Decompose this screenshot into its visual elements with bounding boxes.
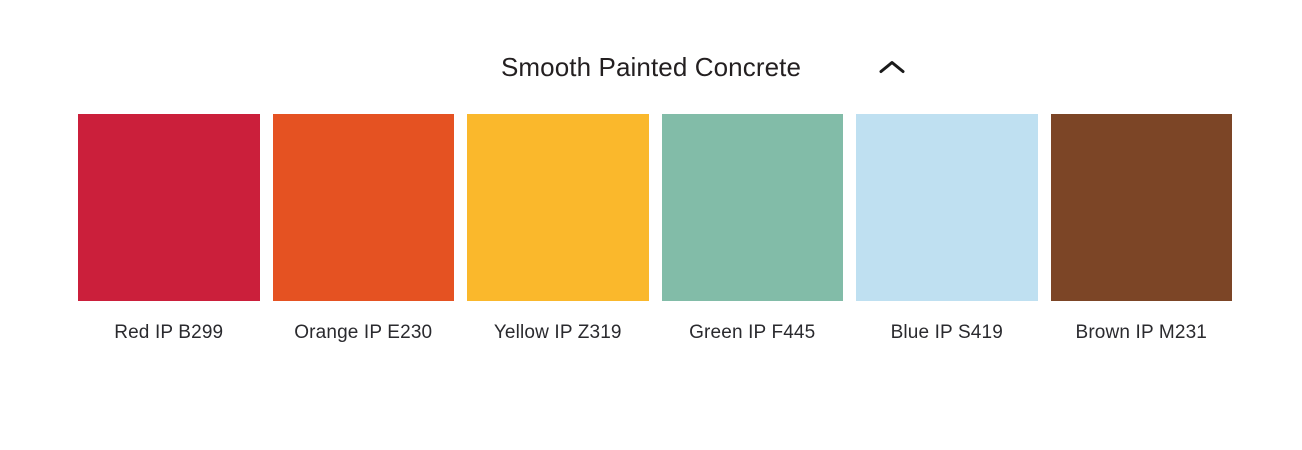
color-swatch[interactable] — [856, 114, 1038, 301]
swatch-item: Green IP F445 — [662, 114, 844, 346]
color-swatch[interactable] — [78, 114, 260, 301]
swatch-item: Yellow IP Z319 — [467, 114, 649, 346]
page-title: Smooth Painted Concrete — [501, 50, 801, 84]
palette-header: Smooth Painted Concrete — [0, 44, 1302, 90]
swatch-item: Brown IP M231 — [1051, 114, 1233, 346]
swatch-label: Brown IP M231 — [1076, 320, 1208, 346]
swatch-item: Blue IP S419 — [856, 114, 1038, 346]
swatch-label: Green IP F445 — [689, 320, 815, 346]
color-swatch[interactable] — [467, 114, 649, 301]
color-palette-panel: Smooth Painted Concrete Red IP B299Orang… — [0, 0, 1302, 450]
swatch-label: Blue IP S419 — [891, 320, 1003, 346]
swatch-row: Red IP B299Orange IP E230Yellow IP Z319G… — [78, 114, 1232, 346]
swatch-item: Red IP B299 — [78, 114, 260, 346]
swatch-label: Red IP B299 — [114, 320, 223, 346]
color-swatch[interactable] — [662, 114, 844, 301]
color-swatch[interactable] — [1051, 114, 1233, 301]
swatch-label: Orange IP E230 — [294, 320, 432, 346]
color-swatch[interactable] — [273, 114, 455, 301]
chevron-up-icon — [879, 59, 905, 75]
swatch-label: Yellow IP Z319 — [494, 320, 622, 346]
swatch-item: Orange IP E230 — [273, 114, 455, 346]
collapse-section-button[interactable] — [869, 50, 915, 84]
